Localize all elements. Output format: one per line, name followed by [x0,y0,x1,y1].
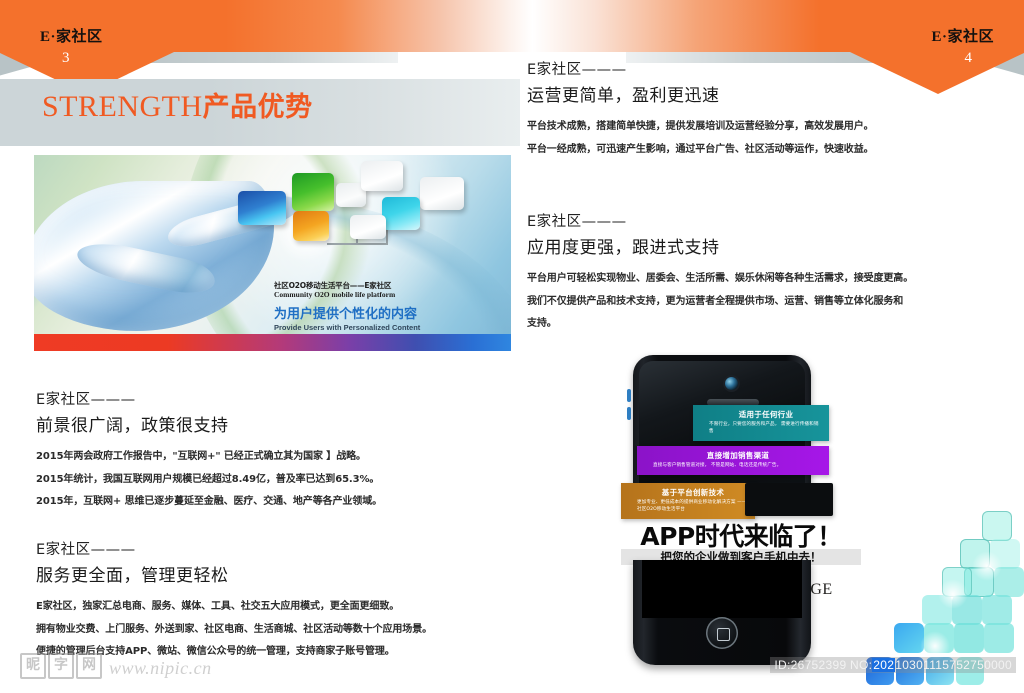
phone-screen [642,560,802,618]
text-block-applicability: E家社区——— 应用度更强，跟进式支持 平台用户可轻松实现物业、居委会、生活所需… [527,212,997,340]
decorative-black-block [745,483,833,516]
volume-down-button [627,407,631,420]
brand-logo-left: E·家社区 [40,25,103,46]
asset-id-highlight: 202 [872,658,895,672]
smartphone-bottom-half [633,560,811,665]
hero-caption-en: Community O2O mobile life platform [274,290,504,300]
camera-icon [725,377,738,390]
hero-rainbow-bar [34,334,511,351]
app-promo-title: APP时代来临了！ [621,517,861,553]
floating-screen-cyan [382,197,420,230]
block-kicker: E家社区——— [36,390,506,412]
block-paragraph: 2015年两会政府工作报告中，"互联网+" 已经正式确立其为国家 】战略。 [36,450,506,464]
screen-connector [327,243,387,245]
page-header-band [0,0,1024,52]
decor-sparkle [938,579,968,609]
nipic-logo-char: 字 [48,653,74,679]
app-promo-graphic: 适用于任何行业 不限行业，只要您的服务和产品， 需要进行传播和销售 直接增加销售… [615,355,865,665]
block-heading: 前景很广阔，政策很支持 [36,414,506,439]
decor-square [954,623,984,653]
block-paragraph: 2015年统计，我国互联网用户规模已经超过8.49亿，普及率已达到65.3%。 [36,473,506,487]
block-heading: 应用度更强，跟进式支持 [527,236,997,261]
floating-screen-gray-2 [361,161,403,191]
block-paragraph: 平台技术成熟，搭建简单快捷，提供发展培训及运营经验分享，高效发展用户。 [527,120,997,134]
block-paragraph: 我们不仅提供产品和技术支持，更为运营者全程提供市场、运营、销售等立体化服务和 [527,295,997,309]
asset-id-prefix: ID:26752399 NO: [774,658,872,672]
block-paragraph: 平台一经成熟，可迅速产生影响，通过平台广告、社区活动等运作，快速收益。 [527,143,997,157]
decor-square [982,595,1012,625]
section-title-en: STRENGTH [42,90,203,123]
brand-logo-right: E·家社区 [931,25,994,46]
nipic-watermark: 昵 字 网 www.nipic.cn [20,653,212,679]
floating-screen-gray-4 [350,215,386,239]
block-heading: 运营更简单，盈利更迅速 [527,84,997,109]
block-paragraph: 平台用户可轻松实现物业、居委会、生活所需、娱乐休闲等各种生活需求，接受度更高。 [527,272,997,286]
decor-square [984,623,1014,653]
nipic-logo-char: 昵 [20,653,46,679]
hero-headline-cn: 为用户提供个性化的内容 [274,303,504,322]
block-kicker: E家社区——— [36,540,506,562]
decor-square [982,511,1012,541]
block-paragraph: E家社区，独家汇总电商、服务、媒体、工具、社交五大应用模式，更全面更细致。 [36,600,506,614]
floating-screen-gray-3 [420,177,464,210]
floating-screen-orange [293,211,329,241]
block-kicker: E家社区——— [527,60,997,82]
block-kicker: E家社区——— [527,212,997,234]
feature-tag-sales-channel: 直接增加销售渠道 直接与客户销售管道对接， 不管是网站、电话还是传统广告。 [637,446,829,475]
decor-sparkle [972,551,1002,581]
nipic-url: www.nipic.cn [109,658,212,679]
page-title: STRENGTH产品优势 [42,85,502,124]
floating-screen-blue [238,191,286,225]
text-block-operations: E家社区——— 运营更简单，盈利更迅速 平台技术成熟，搭建简单快捷，提供发展培训… [527,60,997,165]
feature-tag-desc: 直接与客户销售管道对接， 不管是网站、电话还是传统广告。 [653,463,823,470]
feature-tag-title: 直接增加销售渠道 [653,450,823,461]
block-body: 平台用户可轻松实现物业、居委会、生活所需、娱乐休闲等各种生活需求，接受度更高。 … [527,272,997,331]
feature-tag-platform-tech: 基于平台创新技术 更加专业、更低成本的提供商业移动化解决方案 ——社区O2O移动… [621,483,755,519]
brochure-page: E·家社区 E·家社区 3 4 STRENGTH产品优势 社区O2O移动生活平台… [0,0,1024,693]
page-number-left: 3 [62,50,70,67]
asset-id-rest: 10301115752750000 [895,658,1012,672]
text-block-prospects: E家社区——— 前景很广阔，政策很支持 2015年两会政府工作报告中，"互联网+… [36,390,506,518]
hero-image: 社区O2O移动生活平台——E家社区 Community O2O mobile l… [34,155,511,351]
hero-caption-cn: 社区O2O移动生活平台——E家社区 [274,281,504,290]
feature-tag-title: 适用于任何行业 [709,409,823,420]
block-paragraph: 支持。 [527,317,997,331]
nipic-logo-icon: 昵 字 网 [20,653,102,679]
text-block-services: E家社区——— 服务更全面，管理更轻松 E家社区，独家汇总电商、服务、媒体、工具… [36,540,506,668]
feature-tag-desc: 更加专业、更低成本的提供商业移动化解决方案 ——社区O2O移动生活平台 [637,500,749,514]
section-title-cn: 产品优势 [203,92,313,123]
hero-caption: 社区O2O移动生活平台——E家社区 Community O2O mobile l… [274,281,504,332]
feature-tag-title: 基于平台创新技术 [637,487,749,498]
feature-tag-desc: 不限行业，只要您的服务和产品， 需要进行传播和销售 [709,422,823,436]
volume-up-button [627,389,631,402]
hero-headline-en: Provide Users with Personalized Content [274,323,504,332]
block-body: 平台技术成熟，搭建简单快捷，提供发展培训及运营经验分享，高效发展用户。 平台一经… [527,120,997,156]
block-paragraph: 拥有物业交费、上门服务、外送到家、社区电商、生活商城、社区活动等数十个应用场景。 [36,623,506,637]
feature-tag-industry: 适用于任何行业 不限行业，只要您的服务和产品， 需要进行传播和销售 [693,405,829,441]
block-paragraph: 2015年，互联网+ 思维已逐步蔓延至金融、医疗、交通、地产等各产业领域。 [36,495,506,509]
asset-id-watermark: ID:26752399 NO:20210301115752750000 [770,657,1016,673]
block-body: 2015年两会政府工作报告中，"互联网+" 已经正式确立其为国家 】战略。 20… [36,450,506,509]
floating-screen-green [292,173,334,211]
block-heading: 服务更全面，管理更轻松 [36,564,506,589]
block-body: E家社区，独家汇总电商、服务、媒体、工具、社交五大应用模式，更全面更细致。 拥有… [36,600,506,659]
home-button-icon [706,617,738,649]
nipic-logo-char: 网 [76,653,102,679]
